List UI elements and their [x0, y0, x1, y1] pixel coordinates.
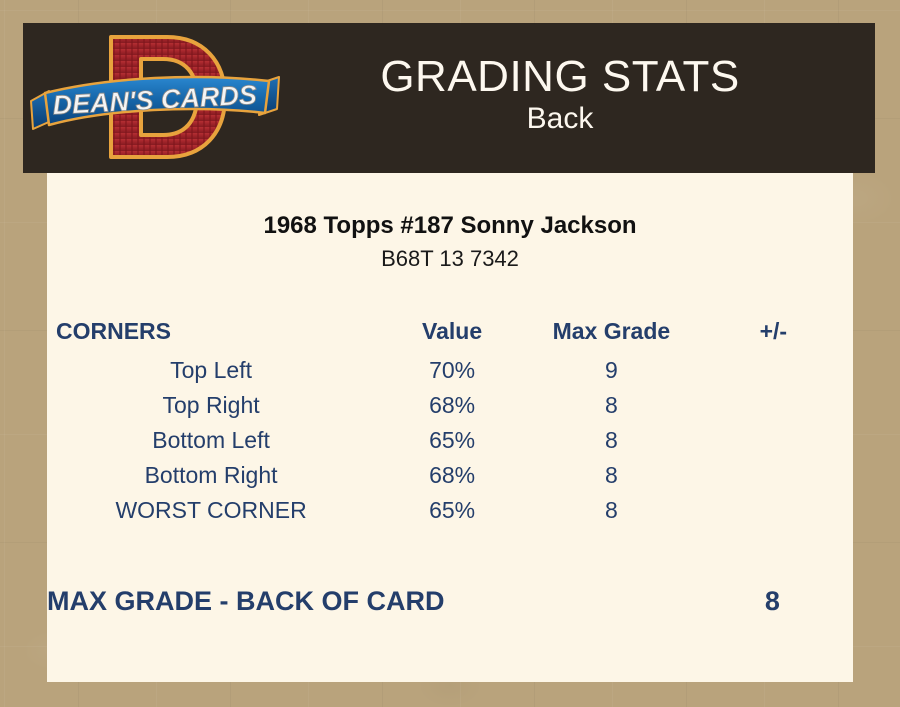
row-max-grade: 8	[529, 493, 694, 528]
page-title: GRADING STATS	[285, 54, 835, 100]
row-plus-minus	[694, 423, 853, 458]
column-header-corners: CORNERS	[47, 312, 375, 353]
card-heading-block: 1968 Topps #187 Sonny Jackson B68T 13 73…	[47, 173, 853, 274]
row-label: Top Left	[47, 353, 375, 388]
logo-ribbon-icon: DEAN'S CARDS	[29, 75, 281, 137]
deans-cards-logo: DEAN'S CARDS	[23, 23, 285, 173]
row-plus-minus	[694, 458, 853, 493]
row-value: 65%	[375, 423, 529, 458]
row-plus-minus	[694, 353, 853, 388]
column-header-value: Value	[375, 312, 529, 353]
card-title: 1968 Topps #187 Sonny Jackson	[47, 211, 853, 241]
row-value: 68%	[375, 458, 529, 493]
row-value: 70%	[375, 353, 529, 388]
row-label: Top Right	[47, 388, 375, 423]
table-row: Top Left 70% 9	[47, 353, 853, 388]
summary-row: MAX GRADE - BACK OF CARD 8	[47, 584, 853, 618]
table-row: Bottom Right 68% 8	[47, 458, 853, 493]
table-header-row: CORNERS Value Max Grade +/-	[47, 312, 853, 353]
table-row: Top Right 68% 8	[47, 388, 853, 423]
row-max-grade: 8	[529, 388, 694, 423]
content-panel: 1968 Topps #187 Sonny Jackson B68T 13 73…	[47, 173, 853, 682]
row-label: Bottom Right	[47, 458, 375, 493]
column-header-max-grade: Max Grade	[529, 312, 694, 353]
column-header-plus-minus: +/-	[694, 312, 853, 353]
table-row: Bottom Left 65% 8	[47, 423, 853, 458]
grading-stats-table: CORNERS Value Max Grade +/- Top Left 70%…	[47, 312, 853, 528]
table-row-worst-corner: WORST CORNER 65% 8	[47, 493, 853, 528]
row-value: 68%	[375, 388, 529, 423]
header-title-block: GRADING STATS Back	[285, 54, 875, 143]
max-grade-summary: MAX GRADE - BACK OF CARD 8	[47, 584, 853, 618]
row-max-grade: 9	[529, 353, 694, 388]
row-max-grade: 8	[529, 423, 694, 458]
page-subtitle: Back	[285, 99, 835, 138]
row-label: WORST CORNER	[47, 493, 375, 528]
card-code: B68T 13 7342	[47, 241, 853, 274]
row-label: Bottom Left	[47, 423, 375, 458]
row-plus-minus	[694, 493, 853, 528]
max-grade-value: 8	[692, 584, 853, 618]
header-bar: DEAN'S CARDS GRADING STATS Back	[23, 23, 875, 173]
row-plus-minus	[694, 388, 853, 423]
row-max-grade: 8	[529, 458, 694, 493]
max-grade-label: MAX GRADE - BACK OF CARD	[47, 584, 692, 618]
row-value: 65%	[375, 493, 529, 528]
